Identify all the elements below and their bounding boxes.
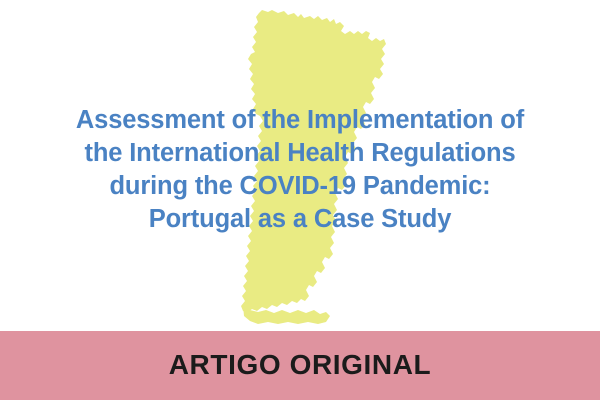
- title-line-3: during the COVID-19 Pandemic:: [0, 170, 600, 203]
- journal-article-cover: Assessment of the Implementation of the …: [0, 0, 600, 400]
- portugal-map-algarve-coast: [243, 305, 330, 324]
- title-line-1: Assessment of the Implementation of: [0, 104, 600, 137]
- title-line-4: Portugal as a Case Study: [0, 203, 600, 236]
- article-type-label: ARTIGO ORIGINAL: [169, 351, 432, 381]
- title-line-2: the International Health Regulations: [0, 137, 600, 170]
- article-type-banner: ARTIGO ORIGINAL: [0, 331, 600, 400]
- article-title: Assessment of the Implementation of the …: [0, 104, 600, 236]
